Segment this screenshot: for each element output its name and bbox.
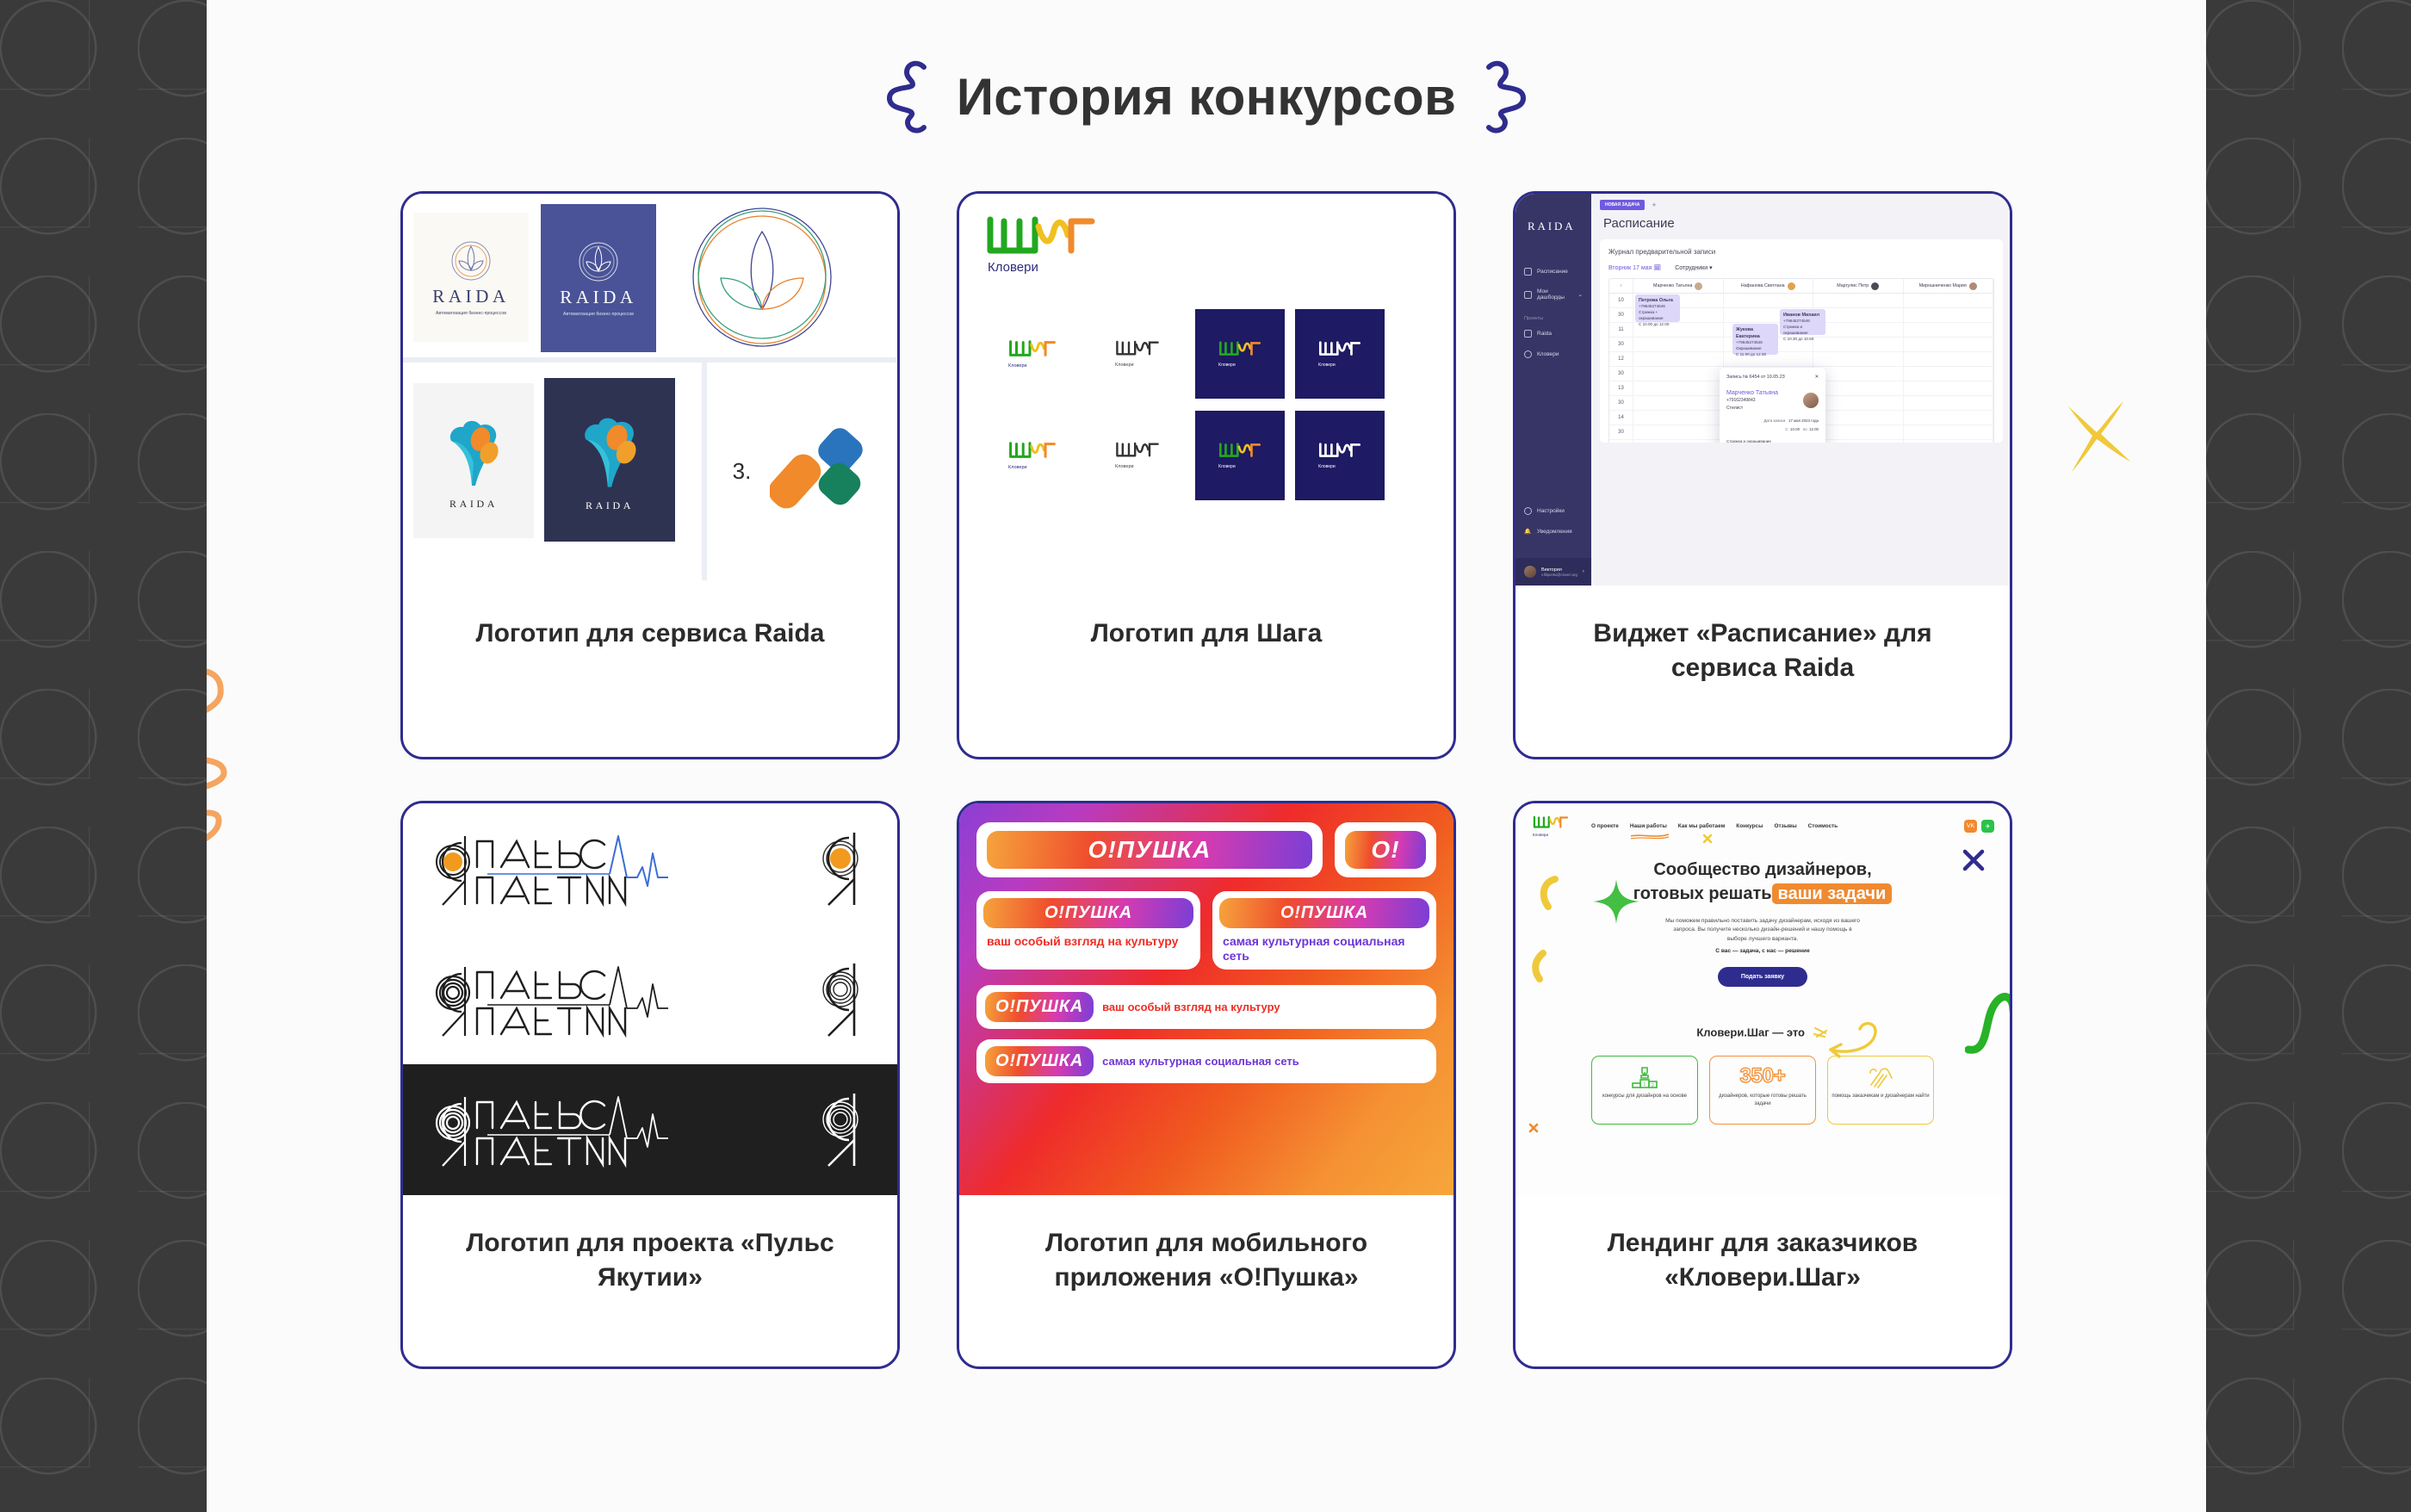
landing-headline-1: Сообщество дизайнеров,: [1515, 859, 2010, 880]
sidebar-item-label: Расписание: [1537, 269, 1568, 275]
landing-hero: Сообщество дизайнеров, готовых решатьваш…: [1515, 859, 2010, 987]
sidebar-project-cloveri[interactable]: Кловери: [1524, 350, 1583, 358]
feature-value: 350+: [1739, 1064, 1785, 1088]
staff-column-header: Нафанова Светлана: [1724, 279, 1814, 293]
shag-variant-white-dark: Кловери: [1295, 309, 1385, 399]
staff-column-header: Маргулис Петр: [1813, 279, 1904, 293]
staff-column-header: Мирошниченко Мария: [1904, 279, 1994, 293]
vk-icon[interactable]: VK: [1964, 820, 1977, 833]
card-caption: Логотип для сервиса Raida: [403, 586, 897, 757]
event-service: Стрижка и окрашивание: [1783, 325, 1808, 335]
landing-paragraph: Мы поможем правильно поставить задачу ди…: [1663, 917, 1862, 945]
shag-wordmark-icon: [1218, 341, 1261, 356]
landing-cta-button[interactable]: Подать заявку: [1718, 967, 1807, 987]
event-service: Стрижка + окрашивание: [1639, 310, 1664, 320]
opushka-logo-pill-wide: О!ПУШКА: [976, 822, 1323, 877]
feature-text: помощь заказчикам и дизайнерам найти: [1831, 1093, 1929, 1100]
landing-headline-2: готовых решать: [1633, 884, 1772, 903]
event-service: Окрашивание: [1736, 346, 1762, 350]
shag-wordmark-icon: [985, 216, 1097, 256]
landing-paragraph-strong: С вас — задача, с нас — решение: [1663, 947, 1862, 957]
opushka-lockup-horizontal-red: О!ПУШКА ваш особый взгляд на культуру: [976, 985, 1436, 1029]
event-time: С 10.30 до 10.50: [1783, 337, 1813, 341]
shag-wordmark-icon: [1218, 443, 1261, 458]
raida-blocks-mark-icon: [770, 421, 871, 523]
opushka-wordmark: О!ПУШКА: [1088, 836, 1212, 864]
shag-subtitle: Кловери: [988, 260, 1097, 275]
sidebar-section-label: Проекты: [1524, 316, 1583, 321]
opushka-logo-pill-short: О!: [1335, 822, 1436, 877]
opushka-slogan-violet: самая культурная социальная сеть: [1102, 1055, 1299, 1068]
sidebar-item-schedule[interactable]: Расписание: [1524, 268, 1583, 276]
sidebar-item-label: Уведомления: [1537, 529, 1572, 535]
raida-logo-row-bottom: RAIDA RAIDA: [403, 363, 897, 580]
shag-subtitle: Кловери: [1218, 363, 1261, 368]
shag-wordmark-icon: [1533, 815, 1569, 829]
panel-heading: Журнал предварительной записи: [1608, 248, 1994, 256]
widget-sidebar: RAIDA Расписание Мои дашборды ⌄: [1515, 194, 1591, 586]
shag-wordmark-icon: [1318, 443, 1361, 458]
card-caption: Виджет «Расписание» для сервиса Raida: [1515, 586, 2010, 757]
puls-yakutii-monogram-icon: [811, 958, 871, 1041]
left-brace-icon: [884, 59, 933, 134]
avatar: [1695, 282, 1702, 290]
raida-lotus-emblem-icon: [576, 240, 621, 283]
new-task-button[interactable]: НОВАЯ ЗАДАЧА: [1600, 200, 1645, 210]
opushka-slogan-red: ваш особый взгляд на культуру: [983, 934, 1193, 949]
landing-features: 1 2 конкурсы для дизайнров на основе 350…: [1515, 1056, 2010, 1125]
opushka-lockup-violet: О!ПУШКА самая культурная социальная сеть: [1212, 891, 1436, 970]
shag-subtitle: Кловери: [1318, 464, 1361, 469]
popup-service: Стрижка и окрашивание: [1726, 439, 1819, 443]
card-caption: Логотип для проекта «Пульс Якутии»: [403, 1195, 897, 1366]
widget-page-heading: Расписание: [1603, 216, 2003, 231]
card-media-cloveri-landing: Кловери О проекте Наши работы: [1515, 803, 2010, 1195]
svg-text:1: 1: [1644, 1082, 1646, 1088]
event-client-name: Жукова Екатерина: [1736, 327, 1760, 339]
project-card-raida-logo[interactable]: RAIDA Автоматизация бизнес-процессов: [400, 191, 900, 759]
content-panel: История конкурсов: [207, 0, 2206, 1512]
shag-subtitle: Кловери: [1218, 464, 1261, 469]
raida-logo-row-top: RAIDA Автоматизация бизнес-процессов: [403, 194, 897, 363]
raida-tile-dark-2: RAIDA: [544, 378, 675, 542]
puls-yakutii-monogram-icon: [811, 827, 871, 910]
shag-subtitle: Кловери: [1115, 464, 1160, 469]
raida-wordmark: RAIDA: [586, 499, 634, 512]
shag-subtitle: Кловери: [1008, 363, 1057, 369]
raida-wordmark: RAIDA: [449, 498, 498, 511]
raida-tile-light-2: RAIDA: [413, 383, 534, 538]
shag-wordmark-icon: [1008, 442, 1057, 459]
prev-day-button[interactable]: ‹: [1609, 279, 1633, 293]
event-time: С 10.00 до 12.00: [1639, 322, 1669, 326]
raida-lotus-emblem-icon: [449, 239, 493, 282]
date-filter[interactable]: Вторник 17 мая 🗓: [1608, 264, 1661, 271]
event-phone: +79645274546: [1639, 304, 1665, 308]
card-caption: Лендинг для заказчиков «Кловери.Шаг»: [1515, 1195, 2010, 1366]
landing-social-links: VK ✈: [1964, 820, 1994, 833]
shag-variants-grid: Кловери Кловери: [985, 309, 1428, 500]
appointment-detail-popup[interactable]: Запись № 6454 от 10.05.23 ✕ Марченко Тат…: [1720, 368, 1825, 443]
card-media-puls-yakutii: [403, 803, 897, 1195]
orange-underline-icon: [1630, 833, 1670, 840]
puls-band-color: [403, 803, 897, 934]
raida-tile-dark: RAIDA Автоматизация бизнес-процессов: [541, 204, 656, 352]
staff-filter[interactable]: Сотрудники ▾: [1675, 264, 1712, 271]
puls-band-mono: [403, 934, 897, 1065]
nav-item-how-we-work[interactable]: Как мы работаем: [1678, 823, 1726, 829]
avatar: [1788, 282, 1795, 290]
raida-tagline: Автоматизация бизнес-процессов: [436, 311, 506, 316]
yellow-arrow-doodle-icon: [1825, 1017, 1886, 1060]
popup-phone: +79162349843: [1726, 398, 1778, 403]
popup-from-label: С: [1785, 427, 1788, 431]
opushka-slogan-red: ваш особый взгляд на культуру: [1102, 1001, 1280, 1013]
feature-card-designers: 350+ дизайнеров, которые готовы решать з…: [1709, 1056, 1816, 1125]
shag-variant-mono-light: Кловери: [1115, 340, 1160, 368]
popup-date-value: 17 мая 2023 года: [1788, 418, 1819, 423]
landing-nav-links: О проекте Наши работы Как мы работаем Ко…: [1591, 823, 1838, 829]
card-media-raida-logo: RAIDA Автоматизация бизнес-процессов: [403, 194, 897, 586]
feature-text: конкурсы для дизайнров на основе: [1602, 1093, 1687, 1100]
puls-yakutii-logo-icon: [427, 827, 685, 910]
sidebar-user[interactable]: Виктория v.filipenko@cloveri.org ›: [1515, 558, 1591, 586]
sidebar-item-label: Настройки: [1537, 508, 1565, 514]
event-phone: +79645274546: [1736, 340, 1763, 344]
schedule-table: ‹ Марченко Татьяна Нафанова Светлана: [1608, 278, 1994, 443]
shag-subtitle: Кловери: [1115, 363, 1160, 368]
nav-item-contests[interactable]: Конкурсы: [1736, 823, 1763, 829]
popup-from-value: 10.00: [1790, 427, 1800, 431]
calendar-icon: [1524, 268, 1532, 276]
popup-role: Стилист: [1726, 406, 1778, 411]
sun-icon: [1524, 350, 1532, 358]
yellow-small-sparkle-icon: [1701, 833, 1714, 845]
avatar: [1969, 282, 1977, 290]
opushka-slogan-violet: самая культурная социальная сеть: [1219, 934, 1429, 963]
telegram-icon[interactable]: ✈: [1981, 820, 1994, 833]
shag-variant-color-light: Кловери: [1008, 442, 1057, 470]
appointment-event[interactable]: Жукова Екатерина +79645274546 Окрашивани…: [1732, 324, 1778, 355]
projects-grid: RAIDA Автоматизация бизнес-процессов: [207, 191, 2206, 1369]
shag-variant-mono-light: Кловери: [1115, 442, 1160, 469]
bell-icon: 🔔: [1524, 528, 1532, 536]
user-email: v.filipenko@cloveri.org: [1541, 573, 1577, 577]
landing-logo[interactable]: Кловери: [1533, 815, 1569, 837]
opushka-wordmark: О!ПУШКА: [995, 997, 1083, 1017]
shag-wordmark-icon: [1008, 340, 1057, 357]
chevron-down-icon: ▾: [1709, 265, 1713, 271]
orange-small-sparkle-icon: [1528, 1122, 1540, 1134]
green-s-curve-doodle-icon: [1965, 976, 2010, 1058]
schedule-panel: Журнал предварительной записи Вторник 17…: [1600, 239, 2003, 443]
sidebar-item-label: Кловери: [1537, 351, 1559, 357]
sidebar-item-label: Мои дашборды: [1537, 288, 1573, 301]
shag-wordmark-icon: [1115, 340, 1160, 356]
close-icon[interactable]: ✕: [1814, 375, 1819, 380]
widget-logo: RAIDA: [1528, 220, 1583, 233]
shag-wordmark-icon: [1318, 341, 1361, 356]
chevron-right-icon: ›: [1583, 569, 1584, 574]
opushka-lockup-horizontal-violet: О!ПУШКА самая культурная социальная сеть: [976, 1039, 1436, 1083]
raida-tile-light: RAIDA Автоматизация бизнес-процессов: [413, 213, 529, 342]
card-caption: Логотип для мобильного приложения «О!Пуш…: [959, 1195, 1453, 1366]
card-media-raida-widget: RAIDA Расписание Мои дашборды ⌄: [1515, 194, 2010, 586]
sidebar-project-raida[interactable]: Raida: [1524, 330, 1583, 338]
gear-icon: [1524, 507, 1532, 515]
staff-column-header: Марченко Татьяна: [1633, 279, 1724, 293]
raida-tagline: Автоматизация бизнес-процессов: [563, 312, 634, 317]
feature-text: дизайнеров, которые готовы решать задачи: [1710, 1093, 1815, 1107]
page-title: История конкурсов: [957, 67, 1456, 127]
feature-card-help: помощь заказчикам и дизайнерам найти: [1827, 1056, 1934, 1125]
puls-yakutii-logo-icon: [427, 1088, 685, 1171]
handshake-icon: [1866, 1064, 1895, 1088]
shag-variant-color-dark: Кловери: [1195, 309, 1285, 399]
sidebar-item-notifications[interactable]: 🔔 Уведомления: [1524, 528, 1572, 536]
folder-icon: [1524, 330, 1532, 338]
calendar-icon: 🗓: [1653, 265, 1661, 271]
add-tab-icon[interactable]: +: [1652, 201, 1656, 209]
shag-subtitle: Кловери: [1008, 465, 1057, 470]
popup-date-label: Дата записи: [1763, 418, 1785, 423]
raida-wordmark: RAIDA: [432, 286, 510, 307]
grid-icon: [1524, 291, 1532, 299]
svg-text:2: 2: [1652, 1083, 1654, 1088]
shag-variant-color-light: Кловери: [1008, 340, 1057, 369]
shag-subtitle: Кловери: [1318, 363, 1361, 368]
right-brace-icon: [1480, 59, 1528, 134]
popup-title: Запись № 6454 от 10.05.23: [1726, 375, 1785, 380]
landing-navbar: Кловери О проекте Наши работы: [1515, 803, 2010, 837]
opushka-wordmark: О!ПУШКА: [1280, 903, 1368, 923]
avatar: [1871, 282, 1879, 290]
avatar: [1524, 566, 1536, 578]
card-media-opushka: О!ПУШКА О! О!ПУШКА: [959, 803, 1453, 1195]
event-time: С 11.00 до 12.30: [1736, 352, 1766, 356]
landing-section-title: Кловери.Шаг — это: [1515, 1025, 2010, 1042]
chevron-down-icon: ⌄: [1578, 291, 1583, 298]
sidebar-item-label: Raida: [1537, 331, 1552, 337]
event-client-name: Петрова Ольга: [1639, 298, 1673, 303]
raida-large-lotus-emblem-icon: [685, 201, 839, 354]
nav-item-price[interactable]: Стоимость: [1808, 823, 1838, 829]
popup-person: Марченко Татьяна: [1726, 390, 1778, 396]
nav-item-reviews[interactable]: Отзывы: [1775, 823, 1797, 829]
sidebar-item-settings[interactable]: Настройки: [1524, 507, 1572, 515]
shag-primary-logo: Кловери: [985, 216, 1097, 275]
schedule-table-body: 10 30 11 30 12 30 13 30 14 30: [1609, 294, 1993, 443]
raida-wordmark: RAIDA: [560, 287, 637, 308]
podium-icon: 1 2: [1630, 1064, 1659, 1088]
project-card-puls-yakutii[interactable]: Логотип для проекта «Пульс Якутии»: [400, 801, 900, 1369]
landing-headline-highlight: ваши задачи: [1772, 883, 1893, 904]
raida-variant-number: 3.: [733, 458, 752, 485]
feature-card-contests: 1 2 конкурсы для дизайнров на основе: [1591, 1056, 1698, 1125]
popup-to-value: 12.00: [1809, 427, 1819, 431]
sidebar-item-dashboards[interactable]: Мои дашборды ⌄: [1524, 288, 1583, 301]
project-card-opushka[interactable]: О!ПУШКА О! О!ПУШКА: [957, 801, 1456, 1369]
shag-variant-white-dark: Кловери: [1295, 411, 1385, 500]
avatar: [1803, 393, 1819, 408]
puls-band-dark: [403, 1064, 897, 1195]
puls-yakutii-logo-icon: [427, 958, 685, 1041]
puls-yakutii-monogram-icon: [811, 1088, 871, 1171]
appointment-event[interactable]: Петрова Ольга +79645274546 Стрижка + окр…: [1635, 294, 1680, 322]
date-filter-label: Вторник 17 мая: [1608, 265, 1652, 271]
page-header: История конкурсов: [207, 59, 2206, 134]
widget-main: НОВАЯ ЗАДАЧА + Расписание Журнал предвар…: [1591, 194, 2010, 586]
raida-leaf-mark-icon: [576, 408, 643, 493]
project-card-raida-widget[interactable]: RAIDA Расписание Мои дашборды ⌄: [1513, 191, 2012, 759]
card-media-shag-logo: Кловери Кловери: [959, 194, 1453, 586]
shag-variant-color-dark: Кловери: [1195, 411, 1285, 500]
opushka-wordmark: О!ПУШКА: [1044, 903, 1132, 923]
schedule-table-header: ‹ Марченко Татьяна Нафанова Светлана: [1609, 279, 1993, 294]
appointment-event[interactable]: Иванов Михаил +79645274546 Стрижка и окр…: [1780, 309, 1825, 335]
staff-filter-label: Сотрудники: [1675, 265, 1708, 271]
yellow-stroke-doodle-icon: [1526, 950, 1548, 984]
event-phone: +79645274546: [1783, 319, 1810, 323]
shag-wordmark-icon: [1115, 442, 1160, 458]
opushka-lockup-red: О!ПУШКА ваш особый взгляд на культуру: [976, 891, 1200, 970]
popup-to-label: по: [1803, 427, 1807, 431]
opushka-short-mark: О!: [1371, 836, 1399, 864]
opushka-wordmark: О!ПУШКА: [995, 1051, 1083, 1071]
nav-item-works[interactable]: Наши работы: [1630, 823, 1667, 829]
table-row: 12: [1609, 352, 1993, 367]
nav-item-about[interactable]: О проекте: [1591, 823, 1619, 829]
landing-logo-subtitle: Кловери: [1533, 833, 1569, 837]
raida-leaf-mark-icon: [443, 412, 505, 491]
event-client-name: Иванов Михаил: [1783, 313, 1819, 318]
card-caption: Логотип для Шага: [959, 586, 1453, 757]
project-card-shag-logo[interactable]: Кловери Кловери: [957, 191, 1456, 759]
project-card-cloveri-landing[interactable]: Кловери О проекте Наши работы: [1513, 801, 2012, 1369]
